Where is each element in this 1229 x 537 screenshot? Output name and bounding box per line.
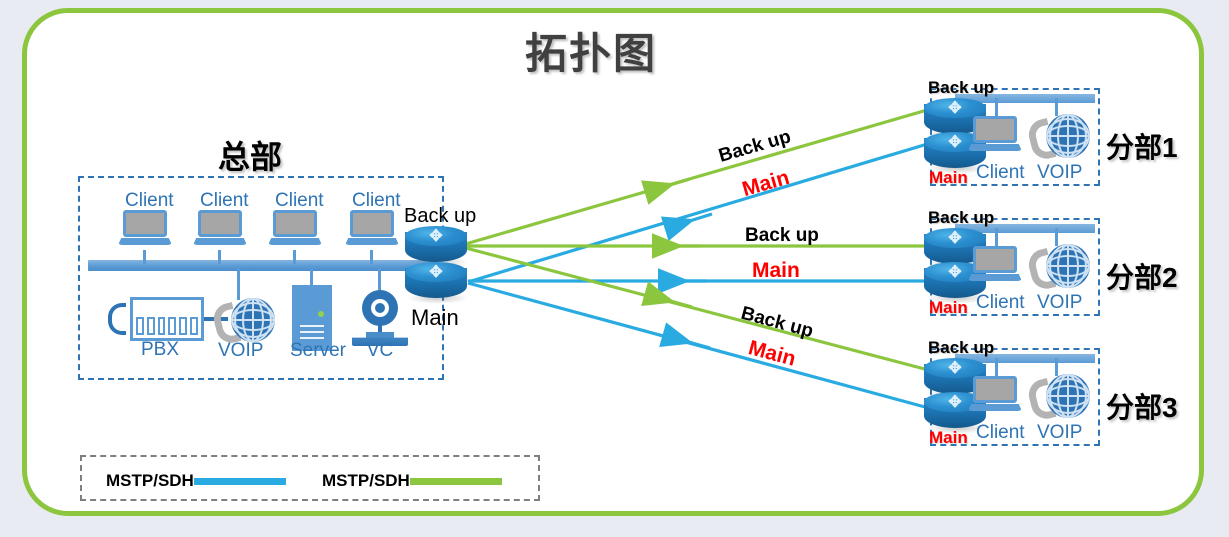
pbx-label: PBX (130, 340, 190, 360)
router-arrows-icon: ✥ (938, 361, 972, 376)
link-label-branch2-main: Main (752, 259, 800, 283)
branch3-backup-router-label: Back up (928, 338, 994, 358)
branch1-name: 分部1 (1106, 126, 1178, 166)
link-hq-branch3-main (468, 283, 936, 410)
link-hq-branch1-main (468, 142, 934, 282)
globe-icon (1046, 374, 1090, 418)
hq-backup-router-label: Back up (404, 205, 476, 228)
headquarters-title: 总部 (218, 132, 282, 178)
laptop-icon[interactable] (968, 116, 1022, 154)
branch1-voip-label: VOIP (1037, 163, 1077, 183)
router-arrows-icon: ✥ (938, 135, 972, 150)
legend: MSTP/SDH MSTP/SDH (80, 455, 540, 501)
globe-icon (1046, 244, 1090, 288)
pbx-icon[interactable] (108, 297, 204, 341)
hq-vc-stem (378, 268, 381, 292)
branch1-main-router-label: Main (929, 168, 968, 188)
router-arrows-icon: ✥ (419, 229, 453, 244)
router-arrows-icon: ✥ (419, 265, 453, 280)
legend-item-main: MSTP/SDH (106, 471, 286, 491)
router-arrows-icon: ✥ (938, 101, 972, 116)
branch1-backup-router-label: Back up (928, 78, 994, 98)
legend-item-backup-label: MSTP/SDH (322, 471, 410, 491)
globe-icon (1046, 114, 1090, 158)
legend-swatch-green (410, 478, 502, 485)
topology-diagram-canvas: 拓扑图 总部 Client Client Client Client (0, 0, 1229, 537)
branch3-main-router-label: Main (929, 428, 968, 448)
link-hq-branch1-backup (462, 108, 934, 245)
laptop-icon (193, 210, 247, 248)
hq-client-1-stem (143, 250, 146, 264)
laptop-icon[interactable] (968, 246, 1022, 284)
globe-icon (231, 298, 275, 342)
hq-client-2-stem (218, 250, 221, 264)
hq-client-1-label: Client (125, 191, 165, 211)
branch1-client-label: Client (976, 163, 1016, 183)
branch2-client-stem (995, 228, 998, 248)
hq-client-4-stem (370, 250, 373, 264)
laptop-icon[interactable] (968, 376, 1022, 414)
legend-item-backup: MSTP/SDH (322, 471, 502, 491)
laptop-icon (345, 210, 399, 248)
hq-main-router-label: Main (411, 305, 459, 331)
hq-main-router[interactable]: ✥ (405, 262, 467, 304)
branch2-backup-router-label: Back up (928, 208, 994, 228)
headquarters-bus-bar (88, 260, 436, 271)
link-label-branch2-backup: Back up (745, 225, 819, 247)
router-arrows-icon: ✥ (938, 395, 972, 410)
branch2-client-label: Client (976, 293, 1016, 313)
branch2-main-router-label: Main (929, 298, 968, 318)
branch3-name: 分部3 (1106, 386, 1178, 426)
link-hq-branch3-backup (462, 247, 936, 372)
branch2-voip-label: VOIP (1037, 293, 1077, 313)
laptop-icon (118, 210, 172, 248)
router-arrows-icon: ✥ (938, 265, 972, 280)
hq-voip-stem (237, 268, 240, 300)
branch3-client-label: Client (976, 423, 1016, 443)
hq-client-3-stem (293, 250, 296, 264)
hq-vc-label: VC (358, 341, 402, 361)
branch2-name: 分部2 (1106, 256, 1178, 296)
laptop-icon (268, 210, 322, 248)
router-arrows-icon: ✥ (938, 231, 972, 246)
hq-server-label: Server (290, 341, 338, 361)
hq-client-2-label: Client (200, 191, 240, 211)
branch1-client-stem (995, 98, 998, 118)
hq-client-3-label: Client (275, 191, 315, 211)
legend-item-main-label: MSTP/SDH (106, 471, 194, 491)
page-title: 拓扑图 (525, 20, 657, 81)
branch3-voip-label: VOIP (1037, 423, 1077, 443)
hq-client-4-label: Client (352, 191, 392, 211)
hq-voip-label: VOIP (218, 341, 258, 361)
legend-swatch-blue (194, 478, 286, 485)
branch3-client-stem (995, 358, 998, 378)
